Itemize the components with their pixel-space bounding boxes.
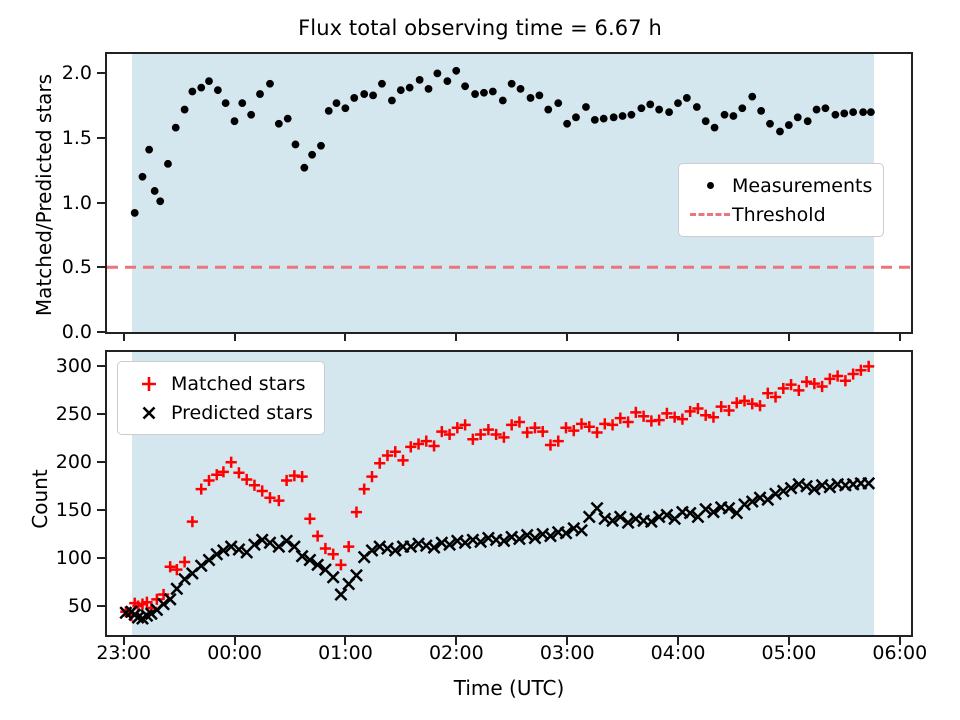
measurement-point: [766, 120, 774, 128]
measurement-point: [646, 100, 654, 108]
matched-star-point: [328, 549, 339, 560]
legend-entry-measurements: Measurements: [688, 171, 872, 200]
matched-star-point: [320, 543, 331, 554]
measurement-point: [508, 80, 516, 88]
matched-star-point: [793, 385, 804, 396]
measurement-point: [683, 94, 691, 102]
matched-star-point: [226, 457, 237, 468]
measurement-point: [156, 197, 164, 205]
x-tick-mark: [566, 333, 568, 341]
dashed-line-icon: [688, 213, 732, 216]
measurement-point: [849, 108, 857, 116]
y-tick-mark: [97, 461, 105, 463]
measurement-point: [527, 94, 535, 102]
x-tick-mark: [234, 333, 236, 341]
predicted-star-point: [335, 589, 346, 600]
x-tick-mark: [123, 637, 125, 645]
matched-star-point: [241, 474, 252, 485]
measurement-point: [693, 103, 701, 111]
matched-star-point: [607, 419, 618, 430]
predicted-star-point: [165, 594, 176, 605]
y-tick-mark: [97, 266, 105, 268]
measurement-point: [619, 112, 627, 120]
x-tick-label: 02:00: [429, 642, 484, 664]
measurement-point: [164, 160, 172, 168]
x-tick-label: 23:00: [96, 642, 151, 664]
predicted-star-point: [382, 543, 393, 554]
measurement-point: [333, 99, 341, 107]
y-tick-mark: [97, 605, 105, 607]
matched-star-point: [654, 414, 665, 425]
predicted-star-point: [591, 503, 602, 514]
x-tick-mark: [788, 333, 790, 341]
predicted-star-point: [328, 572, 339, 583]
legend-label-matched-stars: Matched stars: [171, 373, 305, 395]
y-tick-mark: [97, 365, 105, 367]
matched-star-point: [179, 556, 190, 567]
measurement-point: [665, 108, 673, 116]
measurement-point: [785, 121, 793, 129]
measurement-point: [738, 104, 746, 112]
matched-star-point: [700, 410, 711, 421]
measurement-point: [822, 104, 830, 112]
measurement-point: [214, 86, 222, 94]
measurement-point: [702, 117, 710, 125]
matched-star-point: [257, 485, 268, 496]
measurement-point: [867, 108, 875, 116]
measurement-point: [859, 108, 867, 116]
measurement-point: [554, 99, 562, 107]
measurement-point: [266, 80, 274, 88]
top-panel-ylabel: Matched/Predicted stars: [32, 55, 56, 335]
measurement-point: [256, 90, 264, 98]
measurement-point: [406, 84, 414, 92]
matched-star-point: [187, 516, 198, 527]
measurement-point: [572, 113, 580, 121]
measurement-point: [757, 107, 765, 115]
top-panel-legend: Measurements Threshold: [678, 163, 884, 237]
measurement-point: [471, 90, 479, 98]
measurement-point: [172, 124, 180, 132]
measurement-point: [131, 209, 139, 217]
measurement-point: [794, 113, 802, 121]
legend-label-measurements: Measurements: [732, 175, 872, 197]
measurement-point: [535, 91, 543, 99]
measurement-point: [188, 88, 196, 96]
measurement-point: [341, 104, 349, 112]
predicted-star-point: [196, 560, 207, 571]
measurement-point: [563, 120, 571, 128]
measurement-point: [674, 99, 682, 107]
measurement-point: [181, 106, 189, 114]
predicted-star-point: [863, 478, 874, 489]
predicted-star-point: [158, 599, 169, 610]
predicted-star-point: [171, 583, 182, 594]
predicted-star-point: [599, 513, 610, 524]
measurement-point: [591, 116, 599, 124]
y-tick-label: 50: [4, 595, 92, 617]
x-tick-mark: [677, 637, 679, 645]
dot-marker-icon: [688, 182, 732, 189]
measurement-point: [369, 91, 377, 99]
bottom-panel-legend: Matched stars Predicted stars: [117, 361, 325, 435]
measurement-point: [425, 85, 433, 93]
measurement-point: [197, 84, 205, 92]
measurement-point: [139, 173, 147, 181]
x-tick-mark: [677, 333, 679, 341]
y-tick-mark: [97, 137, 105, 139]
predicted-star-point: [289, 541, 300, 552]
y-tick-label: 300: [4, 355, 92, 377]
matched-star-point: [304, 513, 315, 524]
matched-star-point: [708, 412, 719, 423]
matched-star-point: [397, 455, 408, 466]
matched-star-point: [343, 541, 354, 552]
x-tick-label: 00:00: [207, 642, 262, 664]
measurement-point: [776, 128, 784, 136]
measurement-point: [499, 97, 507, 105]
measurement-point: [582, 103, 590, 111]
y-tick-mark: [97, 509, 105, 511]
x-tick-mark: [123, 333, 125, 341]
plus-marker-icon: [127, 374, 171, 394]
predicted-star-point: [179, 574, 190, 585]
measurement-point: [378, 80, 386, 88]
measurement-point: [544, 106, 552, 114]
measurement-point: [600, 115, 608, 123]
predicted-star-point: [203, 554, 214, 565]
x-tick-label: 04:00: [651, 642, 706, 664]
measurement-point: [433, 69, 441, 77]
measurement-point: [397, 86, 405, 94]
y-tick-mark: [97, 413, 105, 415]
y-tick-mark: [97, 331, 105, 333]
legend-label-threshold: Threshold: [732, 204, 826, 226]
x-tick-mark: [899, 637, 901, 645]
measurement-point: [388, 97, 396, 105]
x-tick-mark: [344, 637, 346, 645]
measurement-point: [711, 124, 719, 132]
x-tick-mark: [566, 637, 568, 645]
predicted-star-point: [351, 570, 362, 581]
cross-marker-icon: [127, 403, 171, 423]
legend-label-predicted-stars: Predicted stars: [171, 402, 313, 424]
matched-star-point: [196, 483, 207, 494]
measurement-point: [350, 94, 358, 102]
measurement-point: [205, 77, 213, 85]
measurement-point: [231, 117, 239, 125]
predicted-star-point: [281, 535, 292, 546]
measurement-point: [813, 106, 821, 114]
measurement-point: [360, 90, 368, 98]
measurement-point: [840, 110, 848, 118]
x-tick-mark: [455, 333, 457, 341]
measurement-point: [222, 99, 230, 107]
measurement-point: [443, 77, 451, 85]
measurement-point: [308, 151, 316, 159]
x-tick-label: 01:00: [318, 642, 373, 664]
matched-star-point: [233, 467, 244, 478]
measurement-point: [517, 85, 525, 93]
x-tick-mark: [788, 637, 790, 645]
matched-star-point: [351, 506, 362, 517]
matched-star-point: [677, 414, 688, 425]
matched-star-point: [335, 559, 346, 570]
measurement-point: [655, 106, 663, 114]
measurement-point: [416, 76, 424, 84]
predicted-star-point: [762, 494, 773, 505]
y-tick-mark: [97, 557, 105, 559]
legend-entry-threshold: Threshold: [688, 200, 872, 229]
measurement-point: [480, 89, 488, 97]
legend-entry-matched-stars: Matched stars: [127, 369, 313, 398]
measurement-point: [610, 113, 618, 121]
measurement-point: [151, 187, 159, 195]
measurement-point: [145, 146, 153, 154]
measurement-point: [461, 82, 469, 90]
x-tick-mark: [234, 637, 236, 645]
legend-entry-predicted-stars: Predicted stars: [127, 398, 313, 427]
x-tick-label: 05:00: [762, 642, 817, 664]
measurement-point: [452, 67, 460, 75]
matched-star-point: [374, 458, 385, 469]
matched-star-point: [731, 397, 742, 408]
matched-star-point: [249, 480, 260, 491]
measurement-point: [300, 164, 308, 172]
y-tick-label: 250: [4, 403, 92, 425]
measurement-point: [317, 142, 325, 150]
matched-star-point: [591, 427, 602, 438]
y-tick-mark: [97, 72, 105, 74]
predicted-star-point: [576, 525, 587, 536]
x-tick-mark: [899, 333, 901, 341]
x-tick-label: 03:00: [540, 642, 595, 664]
measurement-point: [238, 99, 246, 107]
matched-star-point: [297, 471, 308, 482]
measurement-point: [284, 115, 292, 123]
y-tick-mark: [97, 202, 105, 204]
page-title: Flux total observing time = 6.67 h: [0, 16, 960, 40]
figure-canvas: Flux total observing time = 6.67 h 0.00.…: [0, 0, 960, 720]
matched-star-point: [366, 471, 377, 482]
measurement-point: [489, 88, 497, 96]
matched-star-point: [312, 530, 323, 541]
measurement-point: [730, 112, 738, 120]
measurement-point: [721, 111, 729, 119]
matched-star-point: [359, 483, 370, 494]
measurement-point: [325, 107, 333, 115]
measurement-point: [292, 141, 300, 149]
measurement-point: [748, 93, 756, 101]
measurement-point: [275, 120, 283, 128]
measurement-point: [247, 111, 255, 119]
x-tick-mark: [455, 637, 457, 645]
predicted-star-point: [421, 540, 432, 551]
x-axis-label: Time (UTC): [105, 676, 913, 700]
matched-star-point: [801, 376, 812, 387]
bottom-panel-ylabel: Count: [28, 439, 52, 559]
measurement-point: [832, 111, 840, 119]
measurement-point: [804, 117, 812, 125]
x-tick-label: 06:00: [872, 642, 927, 664]
matched-star-point: [203, 475, 214, 486]
matched-star-point: [754, 400, 765, 411]
measurement-point: [628, 111, 636, 119]
measurement-point: [637, 104, 645, 112]
x-tick-mark: [344, 333, 346, 341]
